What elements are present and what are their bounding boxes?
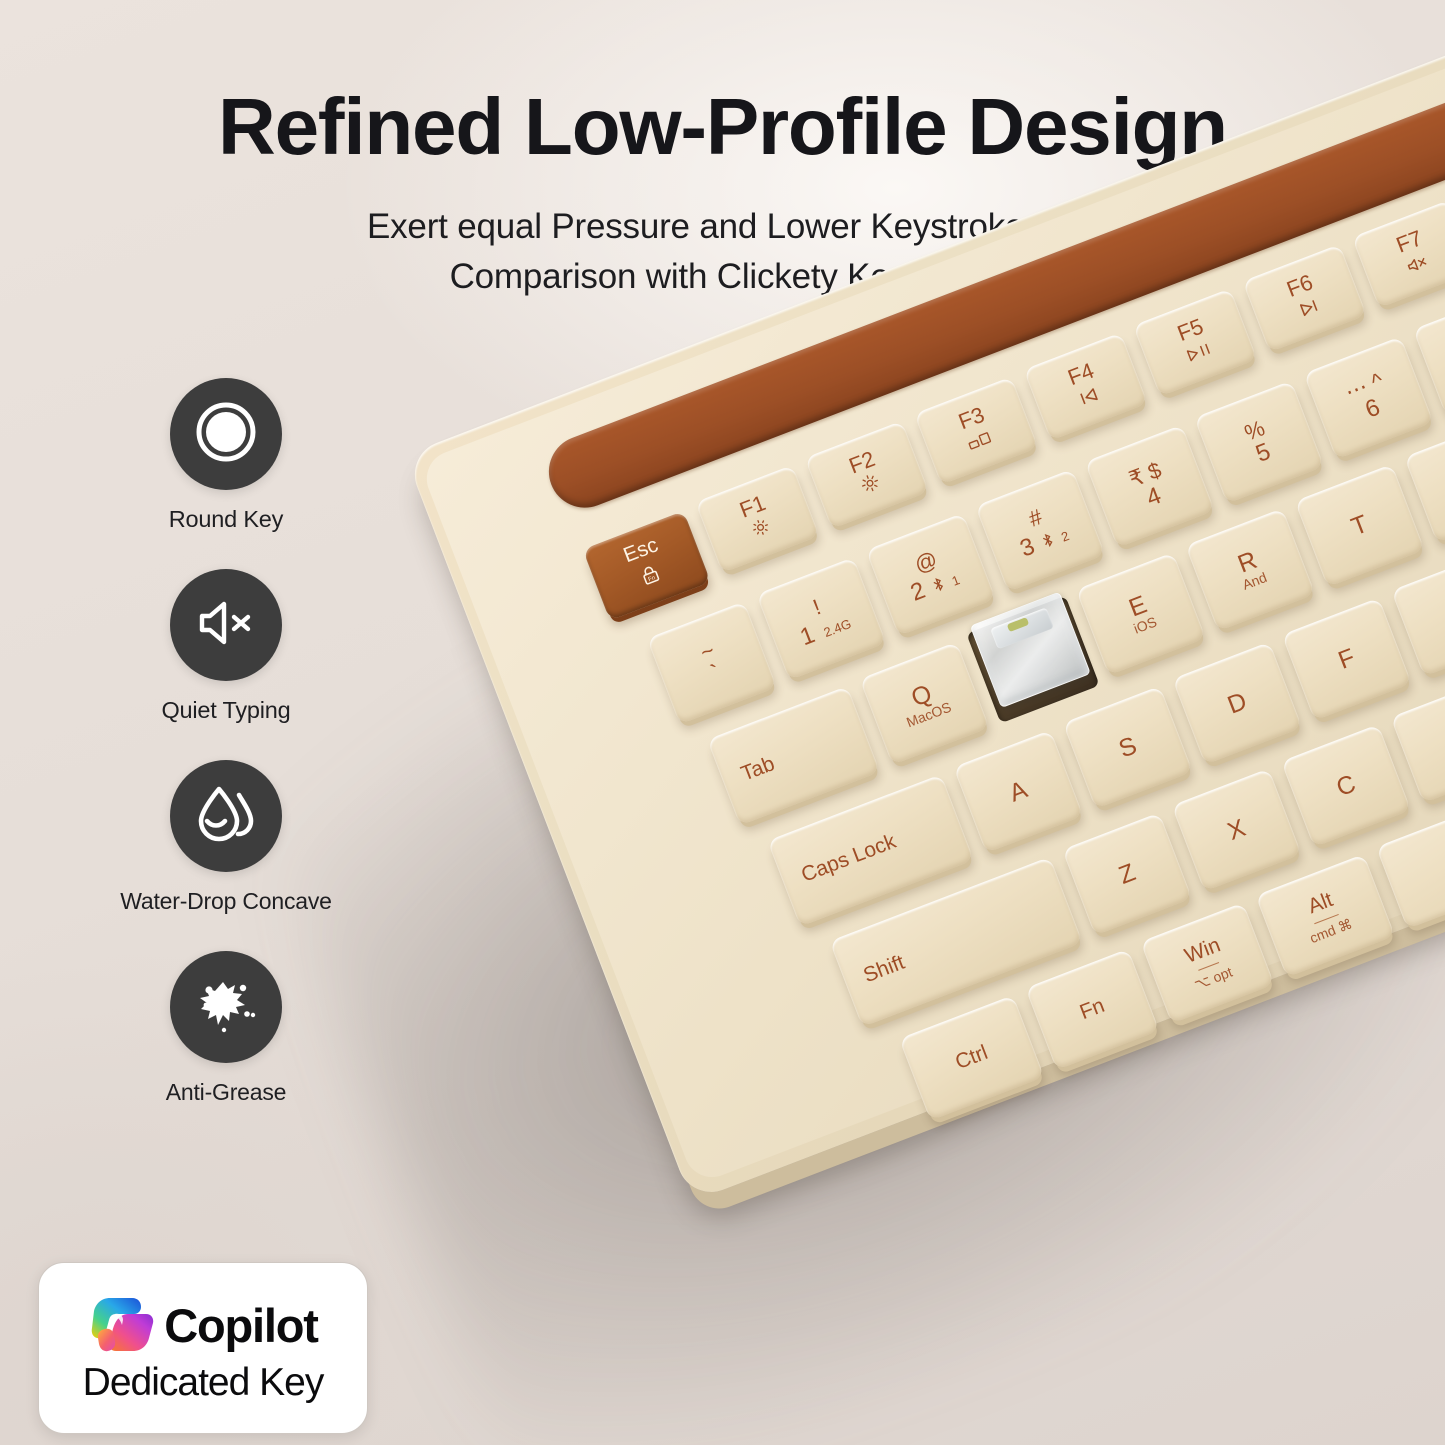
key-alt-label: Alt bbox=[1305, 889, 1336, 918]
copilot-name: Copilot bbox=[164, 1298, 317, 1353]
key-3-sub: 2 bbox=[1059, 528, 1071, 545]
key-a-label: A bbox=[1006, 776, 1031, 806]
key-backtick-bottom: ` bbox=[708, 660, 724, 686]
product-marketing-image: Refined Low-Profile Design Exert equal P… bbox=[0, 0, 1445, 1445]
key-z-label: Z bbox=[1115, 859, 1139, 889]
key-caps-lock-label: Caps Lock bbox=[799, 831, 900, 887]
muted-speaker-icon-badge bbox=[170, 569, 282, 681]
switch-stem bbox=[990, 607, 1054, 649]
key-ctrl-label: Ctrl bbox=[953, 1042, 991, 1074]
feature-list: Round Key Quiet Typing bbox=[76, 378, 376, 1142]
copilot-logo-row: Copilot bbox=[88, 1292, 317, 1359]
brightness-up-icon bbox=[857, 470, 885, 501]
key-3-bottom: 3 bbox=[1017, 533, 1038, 561]
feature-label: Round Key bbox=[76, 506, 376, 533]
feature-label: Water-Drop Concave bbox=[76, 888, 376, 915]
key-fn-label: Fn bbox=[1077, 995, 1108, 1024]
key-2-sub: 1 bbox=[949, 572, 961, 589]
key-2-bottom: 2 bbox=[907, 577, 928, 605]
bluetooth-icon bbox=[929, 570, 947, 597]
copilot-badge[interactable]: Copilot Dedicated Key bbox=[38, 1262, 368, 1434]
key-c-label: C bbox=[1333, 770, 1359, 801]
water-drop-icon-badge bbox=[170, 760, 282, 872]
grease-splatter-icon-badge bbox=[170, 951, 282, 1063]
key-t-label: T bbox=[1348, 511, 1372, 541]
key-1-top: ! bbox=[810, 595, 824, 619]
svg-text:Fn: Fn bbox=[647, 575, 656, 583]
bluetooth-icon bbox=[1038, 526, 1056, 553]
feature-label: Anti-Grease bbox=[76, 1079, 376, 1106]
grease-splatter-icon bbox=[193, 974, 259, 1041]
copilot-subtitle: Dedicated Key bbox=[83, 1361, 324, 1405]
key-tab-label: Tab bbox=[738, 753, 778, 786]
key-d-label: D bbox=[1224, 688, 1250, 719]
key-f-label: F bbox=[1335, 644, 1359, 674]
feature-anti-grease: Anti-Grease bbox=[76, 951, 376, 1106]
feature-label: Quiet Typing bbox=[76, 697, 376, 724]
round-key-icon-badge bbox=[170, 378, 282, 490]
key-shift-label: Shift bbox=[861, 952, 908, 988]
key-1-bottom: 1 bbox=[797, 622, 818, 650]
key-s-label: S bbox=[1115, 732, 1140, 762]
water-drop-icon bbox=[193, 783, 259, 850]
key-6-bottom: 6 bbox=[1362, 395, 1383, 423]
key-5-bottom: 5 bbox=[1252, 439, 1273, 467]
muted-speaker-icon bbox=[194, 595, 258, 656]
feature-round-key: Round Key bbox=[76, 378, 376, 533]
feature-quiet-typing: Quiet Typing bbox=[76, 569, 376, 724]
key-x-label: X bbox=[1224, 815, 1249, 845]
copilot-ribbon-logo bbox=[88, 1292, 154, 1359]
key-1-sub: 2.4G bbox=[822, 616, 854, 640]
round-key-icon bbox=[193, 399, 259, 470]
key-alt-sub: cmd ⌘ bbox=[1308, 916, 1355, 946]
key-4-bottom: 4 bbox=[1143, 483, 1164, 511]
feature-water-drop-concave: Water-Drop Concave bbox=[76, 760, 376, 915]
fn-lock-icon: Fn bbox=[636, 560, 667, 594]
brightness-down-icon bbox=[747, 514, 775, 545]
